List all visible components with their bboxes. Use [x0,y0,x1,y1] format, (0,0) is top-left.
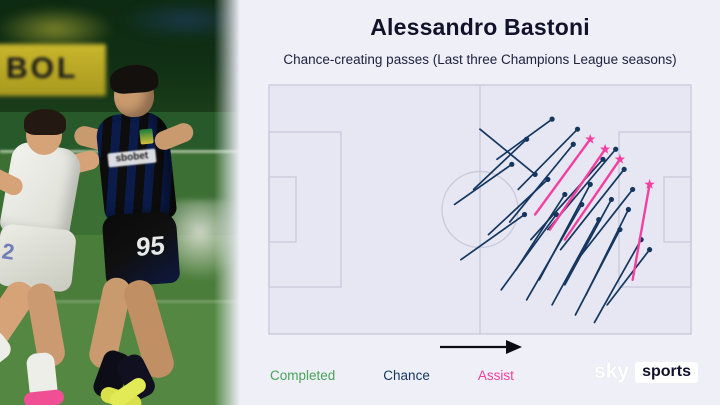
pass-map-svg [268,84,692,335]
pass-end-dot [575,127,580,132]
arrow-right-icon [436,336,526,358]
pass-end-dot [562,192,567,197]
photo-bastoni: sbobet 95 [78,55,198,405]
page-subtitle: Chance-creating passes (Last three Champ… [240,52,720,67]
pass-end-dot [522,212,527,217]
legend-item-completed: Completed [270,368,335,383]
pass-end-dot [613,147,618,152]
photo-bastoni-club-badge [139,128,153,144]
legend-item-chance: Chance [383,368,430,383]
photo-opponent-hair [24,109,66,135]
photo-bastoni-shirt-number: 95 [135,230,165,263]
legend-item-assist: Assist [478,368,514,383]
pass-end-dot [647,247,652,252]
pass-end-dot [509,162,514,167]
pass-map [268,84,692,335]
photo-edge-fade [214,0,240,405]
photo-bastoni-shirt [95,110,178,225]
pass-end-dot [626,207,631,212]
pass-end-dot [549,117,554,122]
stats-panel: Alessandro Bastoni Chance-creating passe… [240,0,720,405]
broadcast-graphic: BOL 2 sbobet 95 [0,0,720,405]
pass-end-dot [622,167,627,172]
direction-of-play [436,336,526,358]
pass-end-dot [571,142,576,147]
photo-advert-text: BOL [6,52,78,86]
pass-end-dot [609,197,614,202]
sky-logo-sports: sports [635,362,698,383]
photo-bastoni-hair [109,63,159,94]
sky-sports-logo: sky sports [594,360,698,384]
sky-logo-word: sky [594,360,629,384]
pass-end-dot [630,187,635,192]
page-title: Alessandro Bastoni [240,14,720,41]
player-photo: BOL 2 sbobet 95 [0,0,240,405]
pass-end-dot [545,177,550,182]
